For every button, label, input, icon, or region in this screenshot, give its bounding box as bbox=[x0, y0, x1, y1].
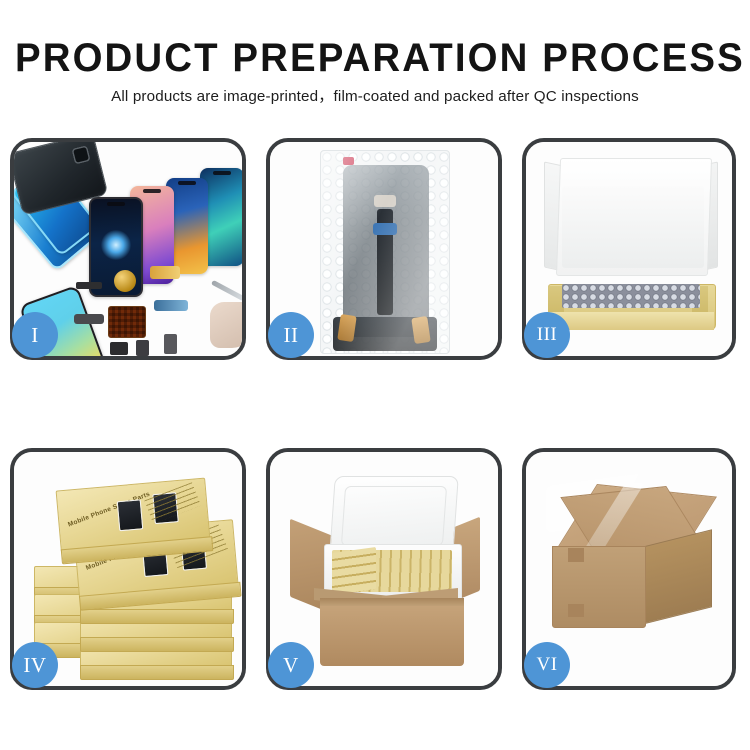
process-step-panel-2: II bbox=[266, 138, 502, 360]
notch-icon bbox=[213, 171, 231, 175]
process-step-panel-3: III bbox=[522, 138, 736, 360]
process-step-grid: I II bbox=[0, 0, 750, 750]
step-badge-3: III bbox=[524, 312, 570, 358]
box-side-face bbox=[80, 637, 234, 652]
notch-icon bbox=[178, 181, 196, 185]
step-badge-4: IV bbox=[12, 642, 58, 688]
box-side-face bbox=[80, 665, 234, 680]
grey-bubble-wrap-icon bbox=[562, 284, 700, 308]
carton-front-face-icon bbox=[552, 546, 646, 628]
earpiece-part-icon bbox=[76, 282, 102, 289]
carton-edge-tab-icon bbox=[568, 604, 584, 617]
infographic-page: PRODUCT PREPARATION PROCESS All products… bbox=[0, 0, 750, 750]
carton-body-icon bbox=[320, 598, 464, 666]
yellow-boxes-stacked-icon bbox=[332, 547, 376, 595]
yellow-box-front-icon bbox=[548, 312, 714, 330]
box-window-screen-icon bbox=[117, 499, 144, 531]
box-side-face bbox=[80, 609, 234, 624]
step-badge-2: II bbox=[268, 312, 314, 358]
flex-cable-dark-icon bbox=[74, 314, 104, 324]
notch-icon bbox=[107, 202, 125, 206]
carton-edge-tab-icon bbox=[568, 548, 584, 562]
retail-box-labeled: Mobile Phone Spare Parts bbox=[56, 478, 211, 553]
process-step-panel-6: VI bbox=[522, 448, 736, 690]
flex-cable-blue-icon bbox=[154, 300, 188, 311]
process-step-panel-5: V bbox=[266, 448, 502, 690]
hand-icon bbox=[210, 302, 242, 348]
plastic-sheen-overlay bbox=[321, 151, 449, 353]
bubble-wrap-icon bbox=[320, 150, 450, 354]
notch-icon bbox=[143, 189, 161, 193]
tweezers-icon bbox=[211, 280, 242, 301]
step-badge-5: V bbox=[268, 642, 314, 688]
speaker-coil-icon bbox=[114, 270, 136, 292]
flex-cable-gold-icon bbox=[150, 266, 180, 279]
step-badge-1: I bbox=[12, 312, 58, 358]
speaker-module-icon bbox=[110, 342, 128, 355]
carton-with-foam-liner-icon bbox=[290, 472, 480, 668]
retail-box-stack: Mobile Phone Spare Parts Mobile Phone Sp… bbox=[28, 470, 234, 666]
process-step-panel-4: Mobile Phone Spare Parts Mobile Phone Sp… bbox=[10, 448, 246, 690]
step-badge-6: VI bbox=[524, 642, 570, 688]
carton-side-face-icon bbox=[642, 529, 712, 624]
battery-connector-icon bbox=[164, 334, 177, 354]
white-foam-sheet-icon bbox=[562, 186, 704, 268]
process-step-panel-1: I bbox=[10, 138, 246, 360]
camera-module-icon bbox=[136, 340, 149, 356]
chip-grid-icon bbox=[108, 306, 146, 338]
sealed-carton-icon bbox=[552, 484, 710, 630]
